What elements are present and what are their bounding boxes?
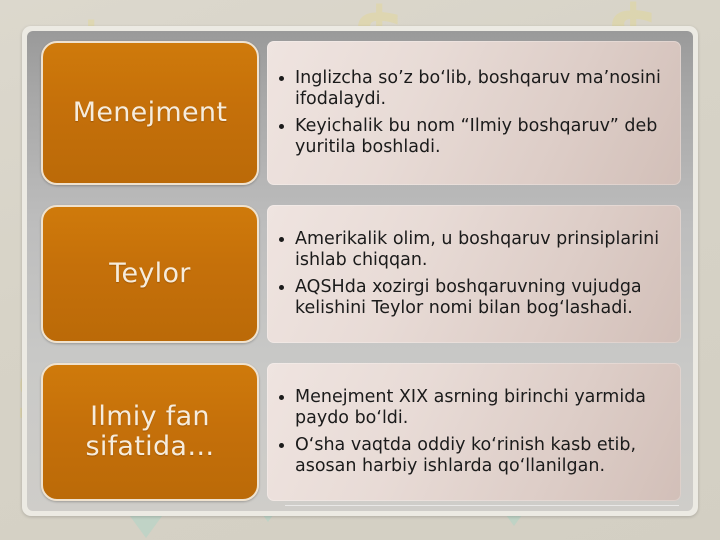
panel-divider bbox=[285, 505, 679, 506]
concept-label-box[interactable]: Teylor bbox=[41, 205, 259, 343]
bullet-dot-icon bbox=[279, 237, 284, 242]
bullet-dot-icon bbox=[279, 395, 284, 400]
bullet-text: Keyichalik bu nom “Ilmiy boshqaruv” deb … bbox=[295, 116, 657, 157]
bullet-list: Menejment XIX asrning birinchi yarmida p… bbox=[275, 387, 671, 477]
bullet-text: Amerikalik olim, u boshqaruv prinsiplari… bbox=[295, 229, 659, 270]
concept-label-box[interactable]: Menejment bbox=[41, 41, 259, 185]
bullet-dot-icon bbox=[279, 443, 284, 448]
list-item: Keyichalik bu nom “Ilmiy boshqaruv” deb … bbox=[275, 116, 671, 158]
row-text-cell: Menejment XIX asrning birinchi yarmida p… bbox=[267, 357, 693, 507]
bullet-text: O‘sha vaqtda oddiy ko‘rinish kasb etib, … bbox=[295, 435, 636, 476]
description-panel: Menejment XIX asrning birinchi yarmida p… bbox=[267, 363, 681, 501]
row-label-cell: Ilmiy fan sifatida… bbox=[27, 357, 267, 507]
description-panel: Inglizcha so’z bo‘lib, boshqaruv ma’nosi… bbox=[267, 41, 681, 185]
list-item: Inglizcha so’z bo‘lib, boshqaruv ma’nosi… bbox=[275, 68, 671, 110]
concept-label-text: Ilmiy fan sifatida… bbox=[43, 402, 257, 462]
bullet-dot-icon bbox=[279, 285, 284, 290]
concept-label-box[interactable]: Ilmiy fan sifatida… bbox=[41, 363, 259, 501]
slide-content-area: Menejment Inglizcha so’z bo‘lib, boshqar… bbox=[27, 31, 693, 511]
concept-label-text: Menejment bbox=[67, 98, 233, 128]
row-label-cell: Teylor bbox=[27, 199, 267, 349]
concept-label-text: Teylor bbox=[103, 259, 196, 289]
list-item: AQSHda xozirgi boshqaruvning vujudga kel… bbox=[275, 277, 671, 319]
slide-row: Ilmiy fan sifatida… Menejment XIX asrnin… bbox=[27, 357, 693, 507]
bullet-text: AQSHda xozirgi boshqaruvning vujudga kel… bbox=[295, 277, 642, 318]
row-text-cell: Inglizcha so’z bo‘lib, boshqaruv ma’nosi… bbox=[267, 35, 693, 191]
row-label-cell: Menejment bbox=[27, 35, 267, 191]
list-item: Menejment XIX asrning birinchi yarmida p… bbox=[275, 387, 671, 429]
slide-row: Teylor Amerikalik olim, u boshqaruv prin… bbox=[27, 199, 693, 349]
bullet-list: Amerikalik olim, u boshqaruv prinsiplari… bbox=[275, 229, 671, 319]
slide-frame: Menejment Inglizcha so’z bo‘lib, boshqar… bbox=[22, 26, 698, 516]
slide-row: Menejment Inglizcha so’z bo‘lib, boshqar… bbox=[27, 35, 693, 191]
list-item: Amerikalik olim, u boshqaruv prinsiplari… bbox=[275, 229, 671, 271]
description-panel: Amerikalik olim, u boshqaruv prinsiplari… bbox=[267, 205, 681, 343]
bullet-dot-icon bbox=[279, 76, 284, 81]
bullet-text: Inglizcha so’z bo‘lib, boshqaruv ma’nosi… bbox=[295, 68, 661, 109]
bullet-dot-icon bbox=[279, 124, 284, 129]
bullet-list: Inglizcha so’z bo‘lib, boshqaruv ma’nosi… bbox=[275, 68, 671, 158]
row-text-cell: Amerikalik olim, u boshqaruv prinsiplari… bbox=[267, 199, 693, 349]
bullet-text: Menejment XIX asrning birinchi yarmida p… bbox=[295, 387, 646, 428]
list-item: O‘sha vaqtda oddiy ko‘rinish kasb etib, … bbox=[275, 435, 671, 477]
